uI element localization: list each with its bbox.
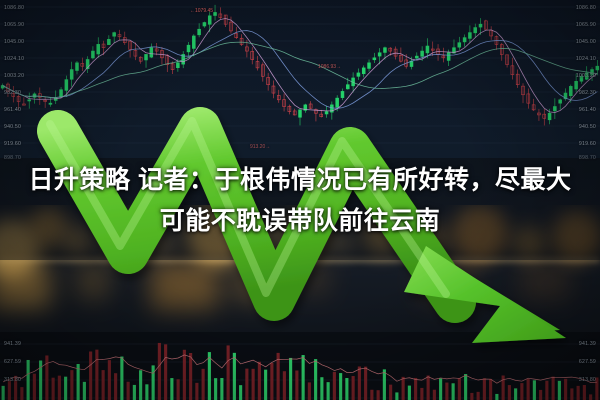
price-axis-label-right: 1003.20 bbox=[576, 73, 596, 79]
headline-line-1: 日升策略 记者：于根伟情况已有所好转，尽最大 bbox=[29, 166, 572, 194]
reflection-streak bbox=[76, 262, 110, 300]
reflection-streak bbox=[300, 262, 330, 296]
price-axis-label-right: 961.40 bbox=[579, 107, 596, 113]
price-axis-label-left: 919.60 bbox=[4, 141, 21, 147]
volume-chart-svg bbox=[0, 332, 600, 400]
price-axis-label-right: 940.50 bbox=[579, 124, 596, 130]
price-axis-label-right: 1065.90 bbox=[576, 22, 596, 28]
price-axis-label-left: 1065.90 bbox=[4, 22, 24, 28]
reflection-streak bbox=[420, 262, 474, 302]
chart-background bbox=[0, 0, 600, 158]
headline-line-2: 可能不耽误带队前往云南 bbox=[12, 201, 588, 242]
volume-axis-label-left: 313.80 bbox=[4, 377, 21, 383]
chart-annotation-mid: 1086.93→ bbox=[318, 64, 341, 70]
price-axis-label-left: 940.50 bbox=[4, 124, 21, 130]
volume-axis-label-left: 941.39 bbox=[4, 341, 21, 347]
price-axis-label-right: 919.60 bbox=[579, 141, 596, 147]
price-chart-svg bbox=[0, 0, 600, 158]
headline-text: 日升策略 记者：于根伟情况已有所好转，尽最大 可能不耽误带队前往云南 bbox=[0, 160, 600, 242]
price-axis-label-left: 1024.10 bbox=[4, 56, 24, 62]
volume-chart-panel bbox=[0, 332, 600, 400]
price-axis-label-left: 1003.20 bbox=[4, 73, 24, 79]
price-axis-label-right: 982.30 bbox=[579, 90, 596, 96]
volume-axis-label-right: 627.59 bbox=[579, 359, 596, 365]
chart-annotation-low: 913.20→ bbox=[250, 144, 270, 150]
price-chart-panel bbox=[0, 0, 600, 158]
chart-annotation-peak: ←1079.45 bbox=[190, 8, 213, 14]
price-axis-label-right: 1024.10 bbox=[576, 56, 596, 62]
price-axis-label-left: 1086.80 bbox=[4, 5, 24, 11]
desk-reflection bbox=[0, 262, 600, 322]
reflection-streak bbox=[232, 262, 276, 304]
reflection-streak bbox=[150, 262, 218, 310]
price-axis-label-left: 982.30 bbox=[4, 90, 21, 96]
news-thumbnail-image: 1086.80 1065.90 1045.00 1024.10 1003.20 … bbox=[0, 0, 600, 400]
volume-axis-label-left: 627.59 bbox=[4, 359, 21, 365]
volume-axis-label-right: 941.39 bbox=[579, 341, 596, 347]
reflection-streak bbox=[520, 262, 570, 300]
price-axis-label-right: 1045.00 bbox=[576, 39, 596, 45]
volume-axis-label-right: 313.80 bbox=[579, 377, 596, 383]
reflection-streak bbox=[0, 262, 50, 308]
price-axis-label-right: 1086.80 bbox=[576, 5, 596, 11]
price-axis-label-left: 1045.00 bbox=[4, 39, 24, 45]
price-axis-label-left: 961.40 bbox=[4, 107, 21, 113]
